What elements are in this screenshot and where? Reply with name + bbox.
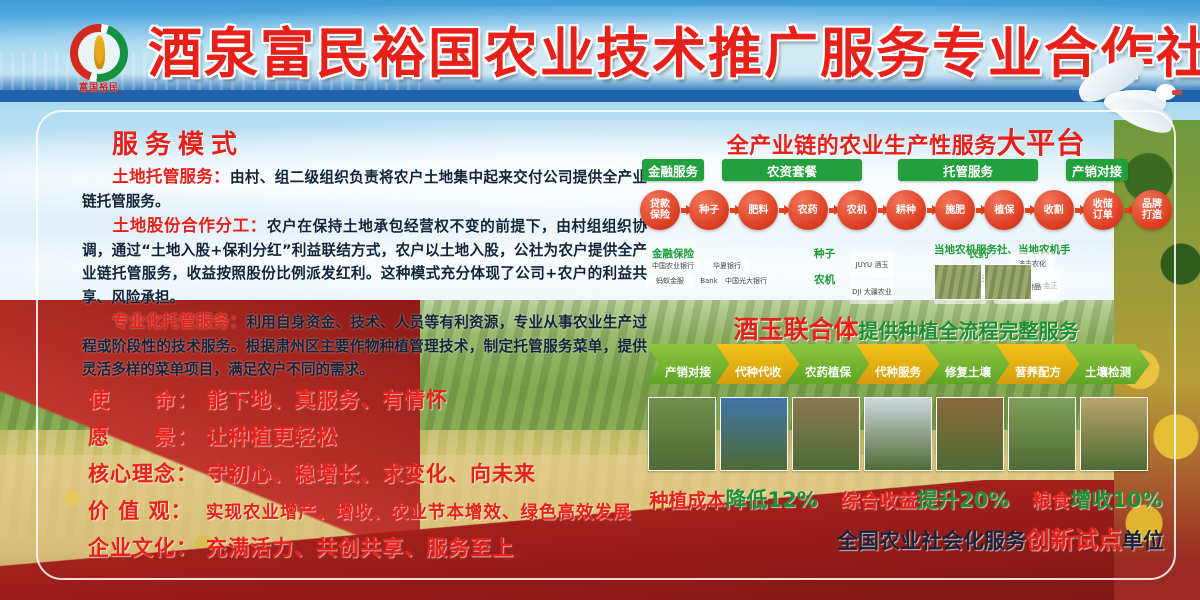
service-chevron-row: 产销对接代种代收农药植保代种服务修复土壤营养配方土壤检测 <box>646 344 1166 384</box>
service-paragraph: 专业化托管服务：利用自身资金、技术、人员等有利资源，专业从事农业生产过程或阶段性… <box>82 310 647 382</box>
chain-node[interactable]: 施肥 <box>935 190 975 230</box>
section-title-service-model: 服务模式 <box>112 124 647 161</box>
slogan-row: 价 值 观：实现农业增产、增收、农业节本增效、绿色高效发展 <box>88 495 668 525</box>
content-panel: 服务模式 土地托管服务：由村、组二级组织负责将农户土地集中起来交付公司提供全产业… <box>36 110 1176 580</box>
partner-logo: Bank <box>696 275 722 287</box>
slogan-row: 使 命：能下地、真服务、有情怀 <box>88 384 668 414</box>
group-title-rest: 提供种植全流程完整服务 <box>859 319 1079 343</box>
partner-logo: 中国农业银行 <box>646 260 700 271</box>
award-suffix: 单位 <box>1122 529 1164 553</box>
group-title-emphasis: 酒玉联合体 <box>733 315 858 344</box>
service-paragraph-lead: 专业化托管服务： <box>112 312 246 331</box>
service-paragraph-lead: 土地托管服务： <box>112 167 230 186</box>
award-prefix: 全国农业社会化服务 <box>837 529 1026 553</box>
chain-node[interactable]: 农药 <box>788 190 828 230</box>
chain-node-label: 收储 <box>1093 199 1113 210</box>
chain-node[interactable]: 耕种 <box>886 190 926 230</box>
slogan-row: 企业文化：充满活力、共创共享、服务至上 <box>88 532 668 562</box>
poster-root: 富国裕民 FU GUO YU MIN 酒泉富民裕国农业技术推广服务专业合作社 服… <box>0 0 1200 600</box>
partner-logo: 中国光大银行 <box>724 275 768 286</box>
slogan-key: 使 命： <box>88 384 206 414</box>
statistic-label: 粮食 <box>1032 490 1070 512</box>
chain-node[interactable]: 植保 <box>984 190 1024 230</box>
partner-logo: 华夏银行 <box>704 260 750 271</box>
chain-node-label: 农机 <box>847 205 867 216</box>
chain-node-label: 种子 <box>699 205 719 216</box>
slogan-list: 使 命：能下地、真服务、有情怀愿 景：让种植更轻松核心理念：守初心、稳增长、求变… <box>88 384 668 569</box>
agricultural-drone-photo <box>864 397 932 471</box>
machinery-photo <box>984 264 1032 300</box>
chain-node[interactable]: 农机 <box>837 190 877 230</box>
service-paragraph-lead: 土地股份合作分工： <box>112 216 267 235</box>
chain-node-label: 农药 <box>798 205 818 216</box>
chain-node-labels: 收储订单 <box>1093 199 1113 221</box>
slogan-row: 核心理念：守初心、稳增长、求变化、向未来 <box>88 458 668 488</box>
product-exhibition-photo <box>720 397 788 471</box>
chain-node-label: 植保 <box>994 205 1014 216</box>
chain-node[interactable]: 品牌打造 <box>1132 190 1172 230</box>
partner-logo: JUYU 酒玉 <box>850 252 894 278</box>
partner-category-label: 种子 <box>814 246 835 261</box>
chain-node-label: 耕种 <box>896 205 916 216</box>
chain-node[interactable]: 肥料 <box>738 190 778 230</box>
slogan-key: 价 值 观： <box>88 495 206 525</box>
wheat-icon <box>94 35 105 69</box>
field-inspection-photo <box>648 397 716 471</box>
slogan-row: 愿 景：让种植更轻松 <box>88 421 668 451</box>
statistic-value: 增收10% <box>1070 488 1162 512</box>
service-chevron[interactable]: 产销对接 <box>646 344 730 384</box>
statistic-label: 综合收益 <box>841 490 917 512</box>
chain-node-label2: 打造 <box>1142 210 1162 221</box>
cooperative-logo: 富国裕民 FU GUO YU MIN <box>62 22 136 96</box>
statistic-item: 粮食增收10% <box>1032 484 1162 514</box>
statistic-label: 种植成本 <box>650 490 726 512</box>
chain-node-label: 贷款 <box>650 199 670 210</box>
partner-logo: 蚂蚁金服 <box>646 275 694 287</box>
activity-photo-strip <box>648 397 1164 471</box>
platform-title-prefix: 全产业链的农业生产性服务 <box>727 134 997 159</box>
category-bar[interactable]: 金融服务 <box>642 159 704 181</box>
header-bottom-strip <box>0 90 1200 102</box>
slogan-value: 守初心、稳增长、求变化、向未来 <box>206 458 536 488</box>
service-paragraph: 土地托管服务：由村、组二级组织负责将农户土地集中起来交付公司提供全产业链托管服务… <box>82 165 647 213</box>
chain-node-labels: 贷款保险 <box>650 199 670 221</box>
group-service-title: 酒玉联合体提供种植全流程完整服务 <box>638 310 1174 346</box>
partner-category-label: 金融保险 <box>652 246 694 261</box>
slogan-key: 核心理念： <box>88 458 206 488</box>
chain-node[interactable]: 种子 <box>689 190 729 230</box>
statistic-value: 提升20% <box>917 488 1009 512</box>
platform-column: 全产业链的农业生产性服务大平台 金融服务农资套餐托管服务产销对接 贷款保险种子肥… <box>638 112 1174 578</box>
chain-node-label: 肥料 <box>748 205 768 216</box>
partner-logo: DJI 大疆农业 <box>850 280 894 304</box>
service-model-paragraphs: 土地托管服务：由村、组二级组织负责将农户土地集中起来交付公司提供全产业链托管服务… <box>82 165 647 382</box>
value-chain-row: 贷款保险种子肥料农药农机耕种施肥植保收割收储订单品牌打造 <box>638 190 1174 238</box>
slogan-key: 愿 景： <box>88 421 206 451</box>
slogan-value: 充满活力、共创共享、服务至上 <box>206 532 514 562</box>
tractor-field-photo <box>936 397 1004 471</box>
slogan-value: 让种植更轻松 <box>206 421 338 451</box>
machinery-photo <box>934 264 982 300</box>
category-bar[interactable]: 农资套餐 <box>722 159 862 181</box>
logo-name-pinyin: FU GUO YU MIN <box>62 90 136 96</box>
slogan-key: 企业文化： <box>88 532 206 562</box>
chain-node[interactable]: 收储订单 <box>1083 190 1123 230</box>
chain-node[interactable]: 贷款保险 <box>640 190 680 230</box>
crop-spraying-photo <box>1008 397 1076 471</box>
statistics-row: 种植成本降低12%综合收益提升20%粮食增收10% <box>638 484 1174 514</box>
platform-title: 全产业链的农业生产性服务大平台 <box>638 120 1174 162</box>
category-bar[interactable]: 托管服务 <box>898 159 1038 181</box>
chain-node[interactable]: 收割 <box>1034 190 1074 230</box>
chain-node-label: 收割 <box>1044 205 1064 216</box>
slogan-value: 实现农业增产、增收、农业节本增效、绿色高效发展 <box>206 499 632 524</box>
signing-ceremony-photo <box>1080 397 1148 471</box>
chain-node-label2: 订单 <box>1093 210 1113 221</box>
category-bar[interactable]: 产销对接 <box>1066 159 1128 181</box>
farmer-consultation-photo <box>792 397 860 471</box>
chain-node-label: 施肥 <box>945 205 965 216</box>
chain-node-label2: 保险 <box>650 210 670 221</box>
chain-node-label: 品牌 <box>1142 199 1162 210</box>
service-paragraph: 土地股份合作分工：农户在保持土地承包经营权不变的前提下，由村组组织协调，通过“土… <box>82 214 647 309</box>
service-model-column: 服务模式 土地托管服务：由村、组二级组织负责将农户土地集中起来交付公司提供全产业… <box>82 120 647 383</box>
award-emphasis: 创新试点 <box>1026 526 1122 554</box>
statistic-value: 降低12% <box>726 488 818 512</box>
statistic-item: 种植成本降低12% <box>650 484 818 514</box>
page-title: 酒泉富民裕国农业技术推广服务专业合作社 <box>148 20 1098 90</box>
platform-title-emphasis: 大平台 <box>997 126 1086 160</box>
partner-category-label: 农机 <box>814 272 835 287</box>
chain-node-labels: 品牌打造 <box>1142 199 1162 221</box>
award-text: 全国农业社会化服务创新试点单位 <box>638 520 1174 555</box>
statistic-item: 综合收益提升20% <box>841 484 1009 514</box>
slogan-value: 能下地、真服务、有情怀 <box>206 384 448 414</box>
